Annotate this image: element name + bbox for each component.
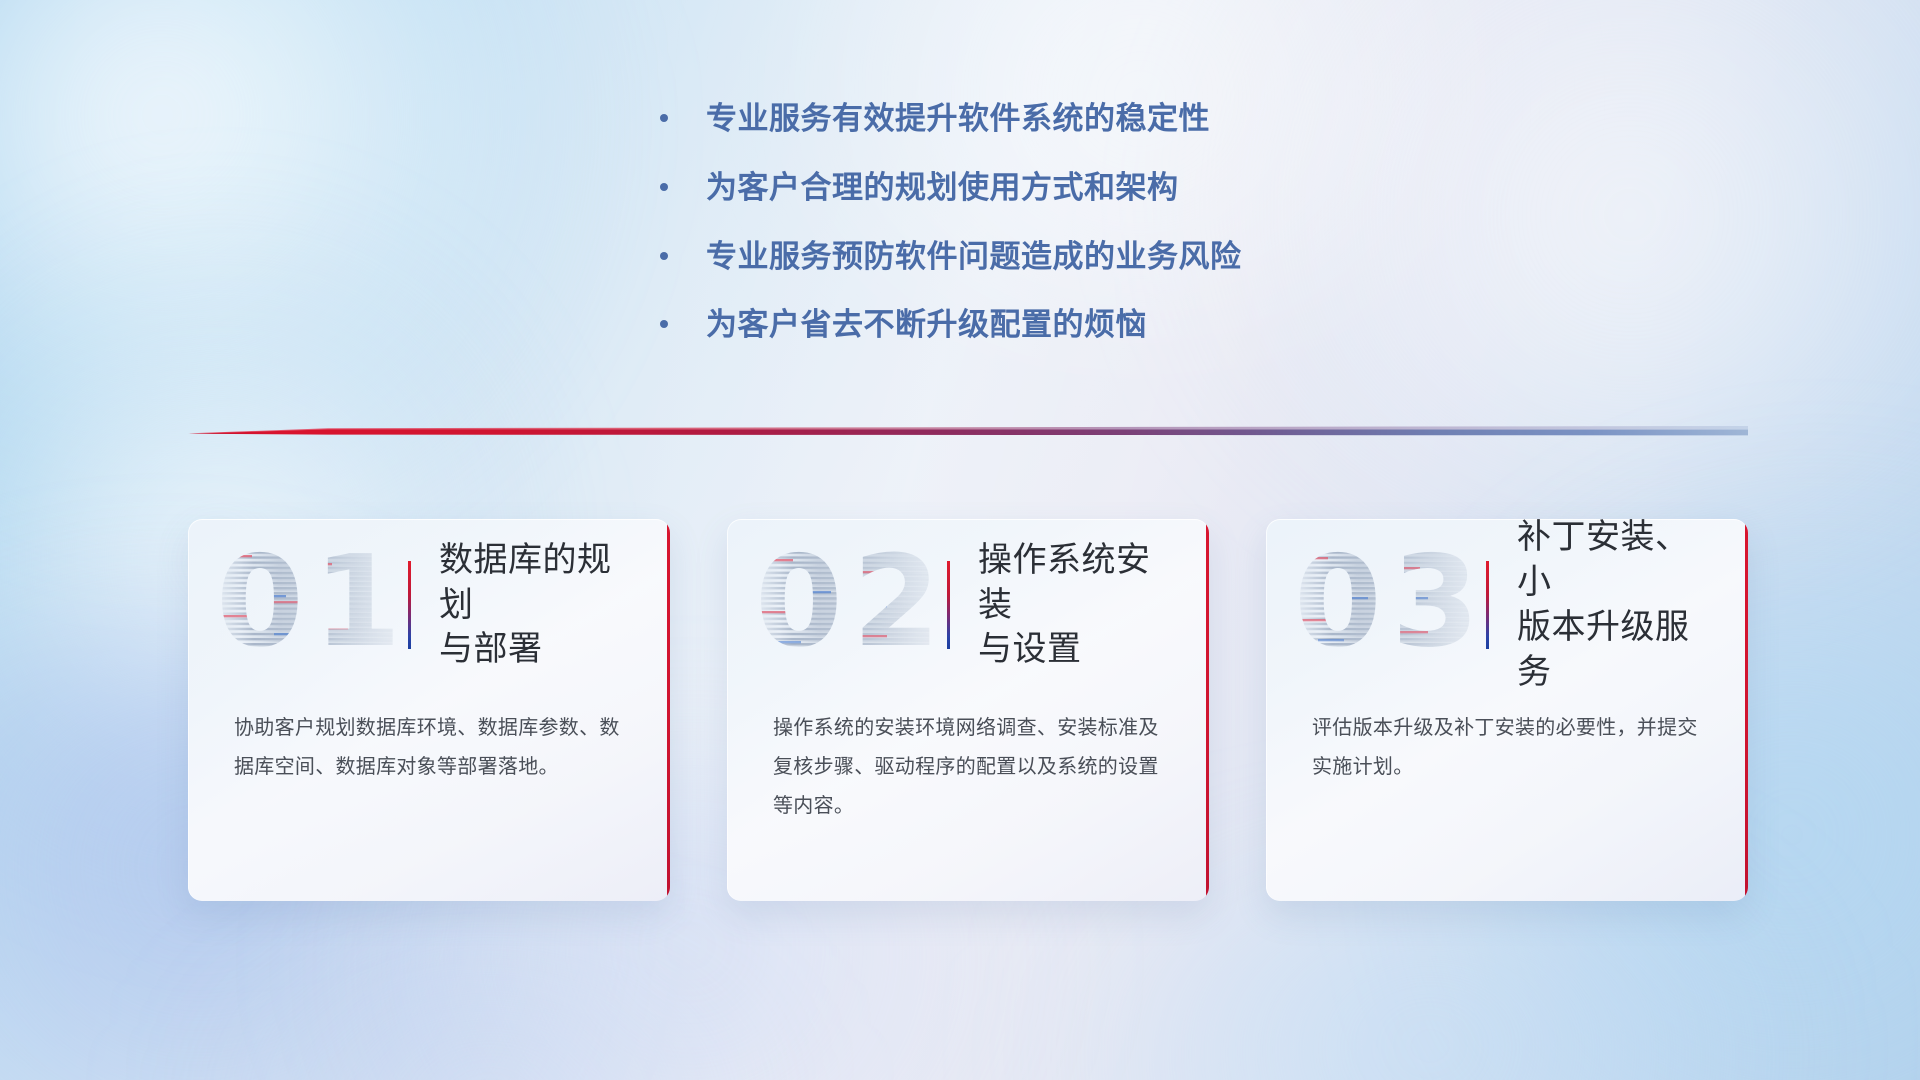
- service-card-01[interactable]: 01: [188, 519, 670, 901]
- card-title-divider: [408, 561, 411, 649]
- card-title: 操作系统安装与设置: [978, 538, 1209, 673]
- card-body-text: 操作系统的安装环境网络调查、安装标准及复核步骤、驱动程序的配置以及系统的设置等内…: [773, 709, 1167, 826]
- card-header: 02 操作系统安: [727, 519, 1209, 691]
- divider-shape-icon: [188, 424, 1748, 440]
- tapered-accent-divider: [188, 424, 1748, 440]
- list-item: 专业服务有效提升软件系统的稳定性: [660, 100, 1460, 139]
- bullet-label: 专业服务有效提升软件系统的稳定性: [706, 100, 1210, 139]
- service-card-02[interactable]: 02 操作系统安: [727, 519, 1209, 901]
- card-title-line1: 数据库的规划: [439, 541, 612, 624]
- card-title-divider: [947, 561, 950, 649]
- card-number-03: 03: [1294, 541, 1484, 669]
- service-card-row: 01: [188, 519, 1748, 911]
- card-body-text: 协助客户规划数据库环境、数据库参数、数据库空间、数据库对象等部署落地。: [234, 709, 628, 787]
- card-title-line1: 操作系统安装: [978, 541, 1151, 624]
- card-number-01: 01: [216, 541, 406, 669]
- bullet-label: 为客户省去不断升级配置的烦恼: [706, 306, 1147, 345]
- benefits-bullet-list: 专业服务有效提升软件系统的稳定性 为客户合理的规划使用方式和架构 专业服务预防软…: [660, 100, 1460, 375]
- card-header: 01: [188, 519, 670, 691]
- card-number-02: 02: [755, 541, 945, 669]
- card-title-line1: 补丁安装、小: [1517, 519, 1690, 601]
- card-body-text: 评估版本升级及补丁安装的必要性，并提交实施计划。: [1312, 709, 1706, 787]
- list-item: 专业服务预防软件问题造成的业务风险: [660, 238, 1460, 277]
- striped-number-icon: 01: [216, 541, 406, 669]
- card-title-line2: 与设置: [978, 630, 1082, 668]
- card-header: 03 补丁安装、: [1266, 519, 1748, 691]
- bullet-dot-icon: [660, 114, 668, 122]
- bullet-label: 为客户合理的规划使用方式和架构: [706, 169, 1179, 208]
- striped-number-icon: 03: [1294, 541, 1484, 669]
- bullet-dot-icon: [660, 183, 668, 191]
- card-title: 数据库的规划与部署: [439, 538, 670, 673]
- card-title: 补丁安装、小版本升级服务: [1517, 519, 1748, 695]
- card-title-line2: 与部署: [439, 630, 543, 668]
- bullet-dot-icon: [660, 320, 668, 328]
- list-item: 为客户合理的规划使用方式和架构: [660, 169, 1460, 208]
- bullet-dot-icon: [660, 252, 668, 260]
- card-title-line2: 版本升级服务: [1517, 608, 1690, 691]
- striped-number-icon: 02: [755, 541, 945, 669]
- bullet-label: 专业服务预防软件问题造成的业务风险: [706, 238, 1242, 277]
- list-item: 为客户省去不断升级配置的烦恼: [660, 306, 1460, 345]
- card-title-divider: [1486, 561, 1489, 649]
- service-card-03[interactable]: 03 补丁安装、: [1266, 519, 1748, 901]
